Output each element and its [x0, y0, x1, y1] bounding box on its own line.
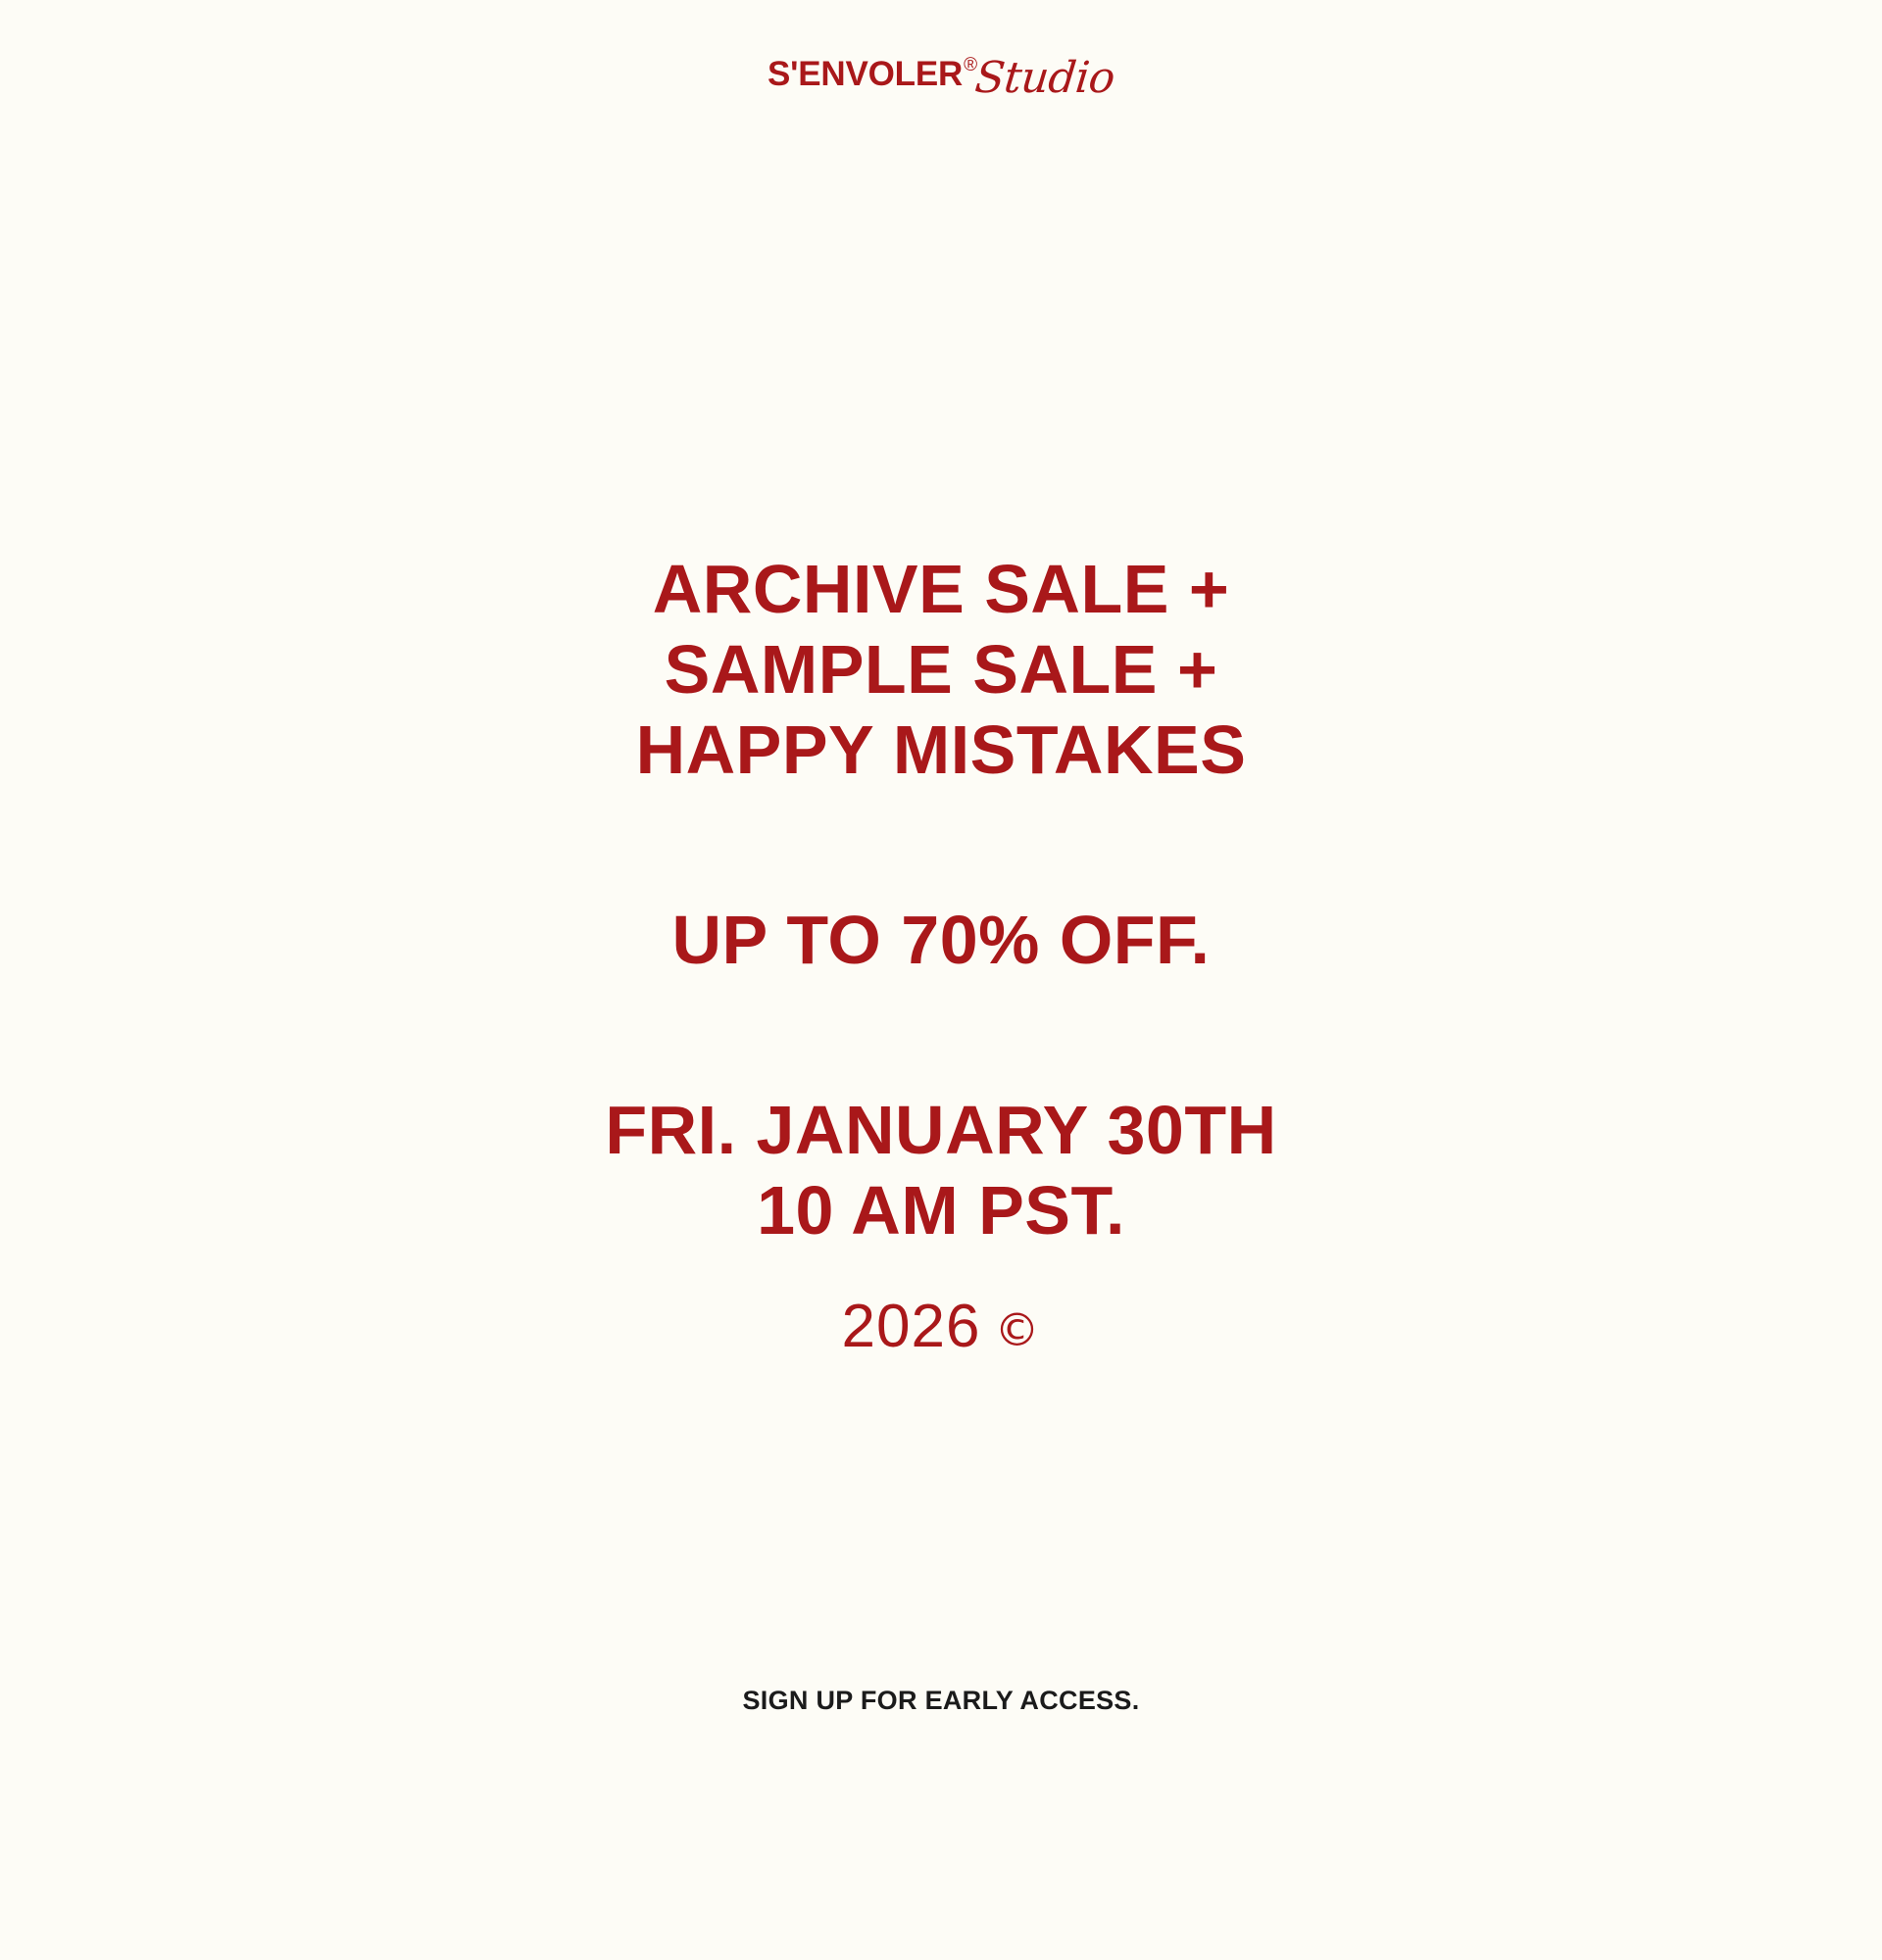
headline-line-2: SAMPLE SALE +	[0, 629, 1882, 710]
year-copyright-line: 2026 ©	[0, 1292, 1882, 1362]
announcement-block: ARCHIVE SALE + SAMPLE SALE + HAPPY MISTA…	[0, 549, 1882, 1362]
event-time: 10 AM PST.	[0, 1170, 1882, 1250]
site-header: S'ENVOLER ® Studio	[0, 0, 1882, 176]
announcement-page: S'ENVOLER ® Studio ARCHIVE SALE + SAMPLE…	[0, 0, 1882, 1960]
event-date: FRI. JANUARY 30TH	[0, 1090, 1882, 1170]
year-text: 2026	[842, 1292, 981, 1362]
brand-logo[interactable]: S'ENVOLER ® Studio	[768, 55, 1114, 100]
headline-line-1: ARCHIVE SALE +	[0, 549, 1882, 629]
copyright-icon: ©	[994, 1307, 1040, 1352]
discount-text: UP TO 70% OFF.	[0, 900, 1882, 980]
logo-wordmark: S'ENVOLER	[768, 55, 963, 94]
page-title: ARCHIVE SALE + SAMPLE SALE + HAPPY MISTA…	[0, 549, 1882, 790]
site-footer: SIGN UP FOR EARLY ACCESS.	[0, 1684, 1882, 1717]
headline-line-3: HAPPY MISTAKES	[0, 710, 1882, 790]
sign-up-early-access-link[interactable]: SIGN UP FOR EARLY ACCESS.	[742, 1684, 1139, 1717]
event-datetime: FRI. JANUARY 30TH 10 AM PST.	[0, 1090, 1882, 1250]
logo-script-word: Studio	[973, 57, 1117, 100]
